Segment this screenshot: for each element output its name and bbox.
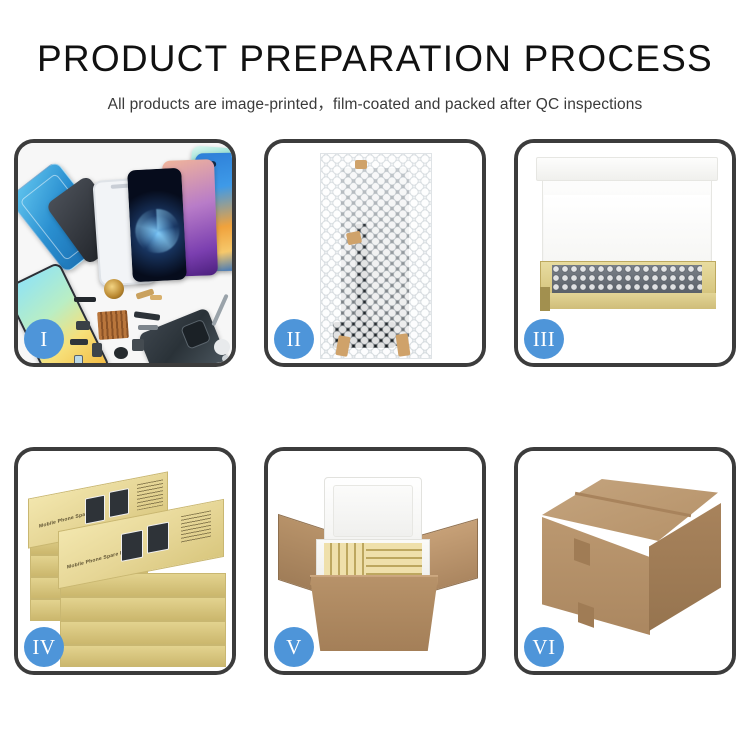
spare-part bbox=[134, 311, 161, 321]
process-step-panel-3: III bbox=[514, 139, 736, 367]
phone-dark-spider-wallpaper bbox=[127, 168, 187, 283]
box-label-phone-image bbox=[121, 530, 143, 562]
spare-part bbox=[74, 297, 96, 302]
spare-part bbox=[211, 294, 228, 327]
step-badge-5: V bbox=[274, 627, 314, 667]
page-title: PRODUCT PREPARATION PROCESS bbox=[0, 38, 750, 80]
spare-part bbox=[92, 343, 102, 357]
step-badge-2: II bbox=[274, 319, 314, 359]
step-badge-3: III bbox=[524, 319, 564, 359]
process-step-panel-1: I bbox=[14, 139, 236, 367]
copper-coil-component bbox=[104, 279, 124, 299]
process-step-grid: I II bbox=[14, 139, 736, 675]
stacked-box bbox=[60, 621, 226, 645]
spare-part bbox=[222, 355, 229, 362]
stacked-box bbox=[60, 645, 226, 667]
bubble-wrap-bag bbox=[320, 153, 432, 359]
process-step-panel-6: VI bbox=[514, 447, 736, 675]
spare-part bbox=[132, 339, 144, 351]
box-label-spec-lines bbox=[137, 479, 163, 510]
page-subtitle: All products are image-printed，film-coat… bbox=[0, 92, 750, 114]
step-badge-1: I bbox=[24, 319, 64, 359]
chip-grid-component bbox=[97, 310, 129, 340]
spare-part bbox=[138, 325, 158, 330]
box-label-spec-lines bbox=[181, 510, 211, 544]
white-foam-sheet bbox=[544, 195, 710, 265]
bubble-texture bbox=[321, 154, 431, 358]
inner-box-left-corner bbox=[540, 287, 550, 311]
spare-part bbox=[74, 355, 83, 363]
bubble-wrapped-contents bbox=[552, 265, 702, 295]
spare-part bbox=[70, 339, 88, 345]
step-badge-6: VI bbox=[524, 627, 564, 667]
spare-part bbox=[214, 339, 230, 355]
inner-box-front-panel bbox=[540, 293, 716, 309]
sealed-carton bbox=[532, 479, 728, 643]
process-step-panel-2: II bbox=[264, 139, 486, 367]
carton-body bbox=[310, 577, 438, 651]
spare-part bbox=[150, 295, 162, 300]
spare-part bbox=[114, 347, 128, 359]
spare-part bbox=[76, 321, 90, 330]
step-badge-4: IV bbox=[24, 627, 64, 667]
kraft-tape bbox=[355, 160, 367, 169]
box-label-phone-image bbox=[109, 488, 129, 518]
process-step-panel-4: Mobile Phone Spare Parts Mobile Phone Sp… bbox=[14, 447, 236, 675]
box-label-phone-image bbox=[147, 522, 169, 554]
header: PRODUCT PREPARATION PROCESS All products… bbox=[0, 38, 750, 114]
process-step-panel-5: V bbox=[264, 447, 486, 675]
box-label-phone-image bbox=[85, 495, 105, 525]
inner-box-lid-edge bbox=[536, 157, 718, 181]
stacked-box bbox=[60, 597, 226, 621]
product-preparation-infographic: PRODUCT PREPARATION PROCESS All products… bbox=[0, 0, 750, 750]
foam-lid bbox=[324, 477, 422, 547]
